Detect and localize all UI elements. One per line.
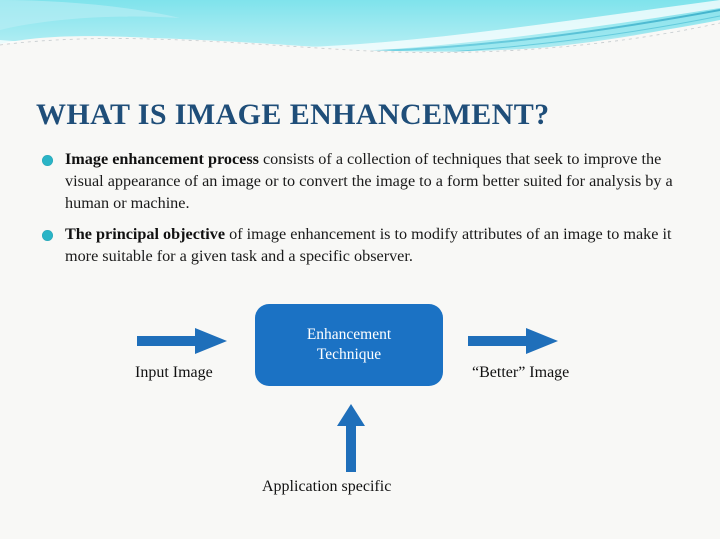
application-specific-label: Application specific [262, 478, 391, 496]
bullet-text: Image enhancement process consists of a … [65, 148, 688, 214]
bullet-dot-icon [42, 155, 53, 166]
bullet-lead-text: The principal objective [65, 225, 225, 243]
list-item: The principal objective of image enhance… [36, 223, 688, 267]
bullet-text: The principal objective of image enhance… [65, 223, 688, 267]
better-image-label: “Better” Image [472, 364, 569, 382]
header-wave-decoration [0, 0, 720, 72]
list-item: Image enhancement process consists of a … [36, 148, 688, 214]
input-image-label: Input Image [135, 364, 213, 382]
box-line-2: Technique [317, 345, 381, 365]
box-line-1: Enhancement [307, 325, 391, 345]
slide-canvas: WHAT IS IMAGE ENHANCEMENT? Image enhance… [0, 0, 720, 539]
process-diagram: Enhancement Technique Input Image “Bette… [0, 296, 720, 526]
arrow-up-icon [337, 404, 365, 477]
bullet-dot-icon [42, 230, 53, 241]
bullet-lead-text: Image enhancement process [65, 150, 259, 168]
bullet-list: Image enhancement process consists of a … [36, 148, 688, 276]
page-title: WHAT IS IMAGE ENHANCEMENT? [36, 98, 686, 131]
arrow-right-icon [137, 328, 227, 359]
enhancement-technique-box: Enhancement Technique [255, 304, 443, 386]
arrow-right-icon [468, 328, 558, 359]
